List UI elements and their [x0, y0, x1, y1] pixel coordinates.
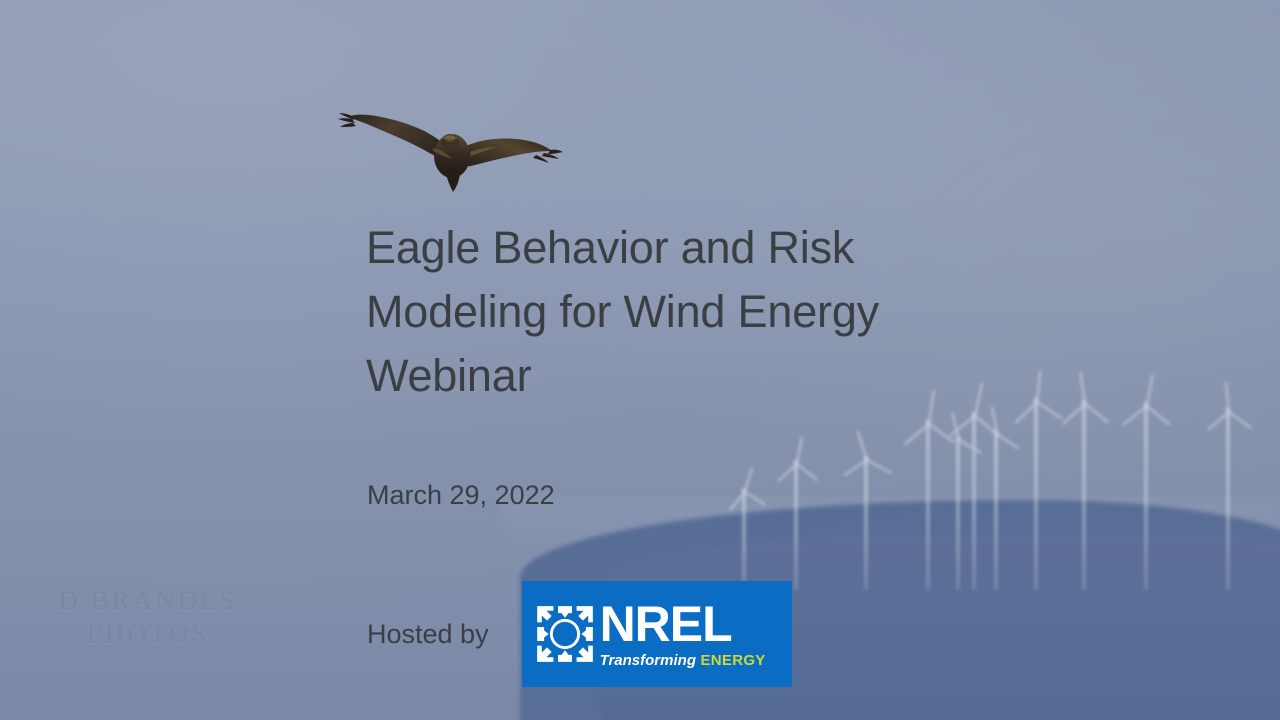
flying-eagle-icon	[338, 104, 563, 204]
page-title-line-1: Eagle Behavior and Risk	[366, 216, 1006, 280]
page-title: Eagle Behavior and RiskModeling for Wind…	[366, 216, 1006, 408]
hosted-by-label: Hosted by	[367, 619, 489, 650]
nrel-logo: NREL Transforming ENERGY	[522, 581, 792, 687]
nrel-tagline: Transforming ENERGY	[600, 653, 766, 668]
presentation-title-slide: D BRANDES PHOTOS Eagle Behavior and Risk…	[0, 0, 1280, 720]
event-date: March 29, 2022	[367, 480, 555, 511]
nrel-wordmark-group: NREL Transforming ENERGY	[600, 601, 766, 668]
nrel-tagline-transforming: Transforming	[600, 652, 696, 669]
nrel-circular-arrows-mark-icon	[536, 605, 594, 663]
nrel-tagline-energy: ENERGY	[696, 652, 766, 669]
nrel-wordmark: NREL	[600, 601, 766, 647]
hosted-by-row: Hosted by	[367, 581, 792, 687]
page-title-line-2: Modeling for Wind Energy	[366, 280, 1006, 344]
page-title-line-3: Webinar	[366, 344, 1006, 408]
